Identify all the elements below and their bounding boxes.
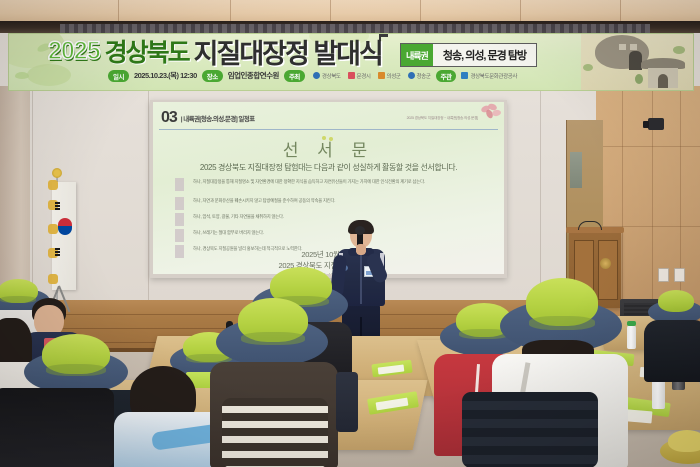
pavilion-illustration [641,58,685,88]
wall-camera-icon [648,118,664,130]
ceiling [0,0,700,22]
sponsor-logo-2: 의성군 [378,72,401,80]
region-course: 청송, 의성, 문경 탐방 [433,44,536,66]
banner-title-row: 2025 경상북도 지질대장정 발대식 [48,36,382,66]
sponsor-name: 청송군 [417,72,431,80]
bullet-square [175,197,184,210]
slide-footer: 2025년 10월 23일 2025 경상북도 지질대장정 탐험대 성인대표 /… [153,250,504,274]
oath-item-text: 하나, 암석, 토양, 광물, 기타 자연물을 채취하지 않는다. [193,214,490,220]
banner-province: 경상북도 [105,33,189,69]
coat-on-chair [0,388,114,467]
bucket-hat [660,438,700,464]
sponsor-logo-4: 경상북도문화관광공사 [461,72,517,80]
sponsor-name: 경상북도문화관광공사 [470,72,517,80]
projection-screen: 03 | 내륙권[청송.의성.문경] 일정표 2025 경상북도 지질대장정 ~… [153,102,504,274]
sponsor-label-pill: 주관 [436,70,457,82]
footer-team: 2025 경상북도 지질대장정 탐험대 [153,261,504,272]
power-outlet [658,268,669,282]
audience-member [216,318,346,467]
place-label-pill: 장소 [202,70,223,82]
chair [336,372,358,432]
region-tag: 내륙권 [401,44,433,66]
host-logo-row: 경상북도 문경시 의성군 청송군 [313,72,431,80]
flower-icon [481,104,501,120]
wall-left-column [0,86,30,306]
banner-year: 2025 [48,37,100,66]
podium-emblem-icon [600,258,611,269]
bucket-hat [216,318,328,366]
podium-microphone-icon [578,221,602,230]
date-value: 2025.10.23.(목) 12:30 [134,70,197,81]
audience-member [648,300,700,380]
host-label-pill: 주최 [284,70,305,82]
banner-illustration [581,34,693,90]
door-window [570,152,582,188]
region-badge: 내륙권 청송, 의성, 문경 탐방 [400,43,537,67]
slide-corner-note: 2025 경상북도 지질대장정 ~ 내륙권[청송.의성.문경] [407,116,478,121]
slide-divider [159,129,498,130]
bullet-square [175,213,184,226]
puffer-jacket [462,392,598,467]
sponsor-name: 문경시 [357,72,371,80]
sponsor-name: 의성군 [387,72,401,80]
flag-finial-icon [52,168,62,178]
slide-oath-intro: 2025 경상북도 지질대장정 탐험대는 다음과 같이 성실하게 활동할 것을 … [153,162,504,173]
backpack [222,398,328,467]
sponsor-name: 경상북도 [322,72,341,80]
sponsor-logo-3: 청송군 [408,72,431,80]
oath-item-text: 하나, 자연과 문화유산을 훼손시키지 않고 탐방예절을 준수하여 공동의 약속… [193,198,490,204]
list-item: 하나, 자연과 문화유산을 훼손시키지 않고 탐방예절을 준수하여 공동의 약속… [175,197,490,213]
banner-subline: 일시 2025.10.23.(목) 12:30 장소 임업인종합연수원 주최 경… [108,69,517,82]
footer-date: 2025년 10월 23일 [153,250,504,261]
bullet-square [175,178,184,191]
footer-reps: 성인대표 / 학생대표 [153,272,504,274]
power-outlet [674,268,685,282]
oath-item-text: 하나, 지질대장정을 통해 지질명소 및 자연환경에 대한 정확한 지식을 습득… [193,179,490,185]
slide-breadcrumb: | 내륙권[청송.의성.문경] 일정표 [181,113,255,123]
place-value: 임업인종합연수원 [228,70,279,81]
sponsor-logo-1: 문경시 [348,72,371,80]
flag-fringe [48,180,58,292]
screenshot-root: 2025 경상북도 지질대장정 발대식 일시 2025.10.23.(목) 12… [0,0,700,467]
sponsor-logo-0: 경상북도 [313,72,341,80]
banner-main-title: 지질대장정 발대식 [194,32,382,71]
list-item: 하나, 지질대장정을 통해 지질명소 및 자연환경에 대한 정확한 지식을 습득… [175,178,490,197]
slide-title: 선 서 문 [153,136,504,161]
date-label-pill: 일시 [108,70,129,82]
bullet-square [175,229,184,242]
slide-section-number: 03 [161,109,177,127]
